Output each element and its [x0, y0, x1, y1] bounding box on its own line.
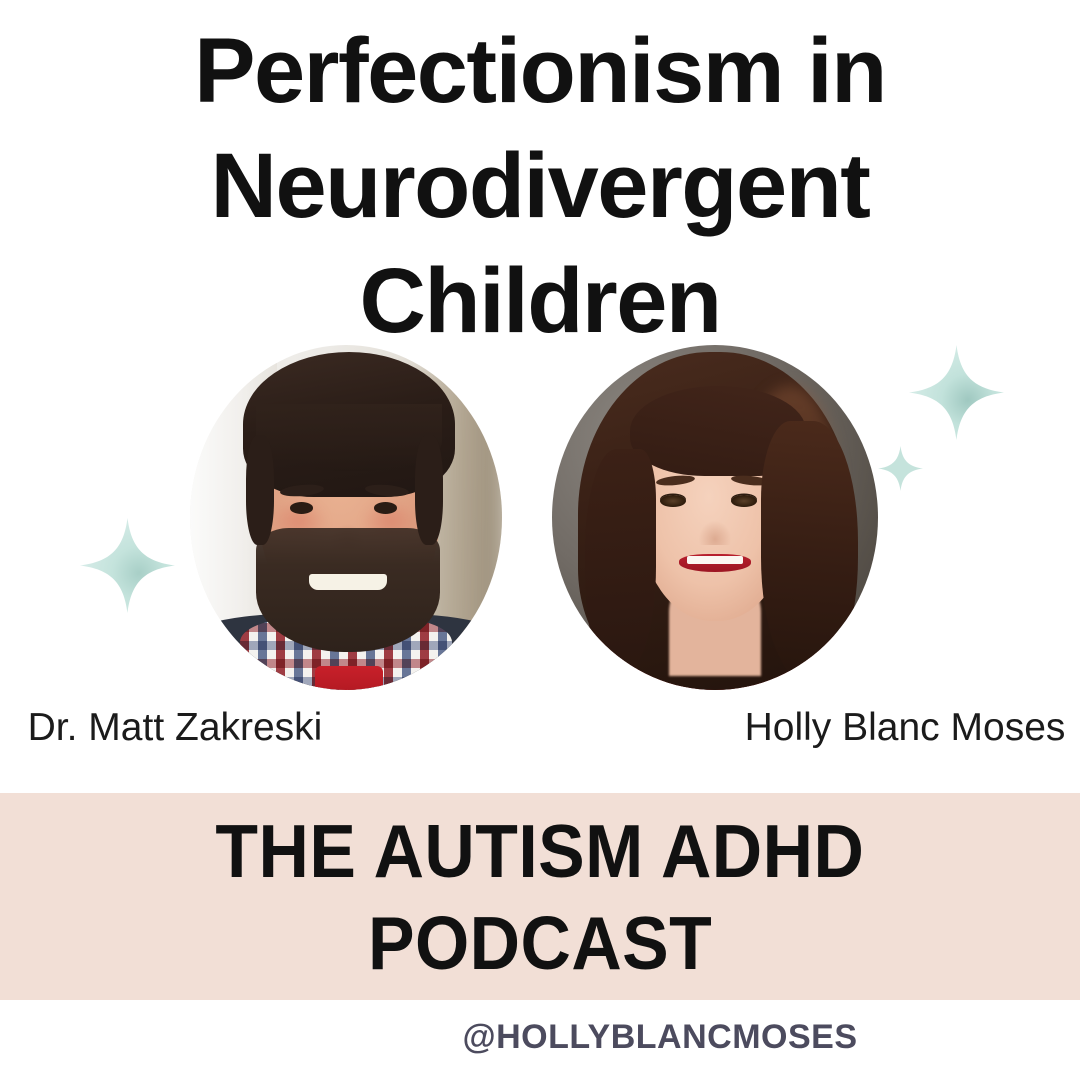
guest-names: Dr. Matt Zakreski Holly Blanc Moses [0, 706, 1080, 750]
guest-photo-right [552, 345, 878, 690]
photo-teeth [687, 556, 742, 563]
episode-title: Perfectionism in Neurodivergent Children [0, 14, 1080, 359]
photo-beard [256, 528, 440, 652]
title-line-1: Perfectionism in [0, 14, 1080, 129]
sparkle-top-right-icon [909, 345, 1004, 440]
avatar-holly-blanc-moses [552, 345, 878, 690]
photo-hair-front-right [761, 421, 859, 683]
guest-photo-left [190, 345, 502, 690]
podcast-cover: Perfectionism in Neurodivergent Children [0, 0, 1080, 1080]
avatar-matt-zakreski [190, 345, 502, 690]
photo-sideburn-left [246, 435, 274, 545]
sparkle-mid-right-icon [878, 446, 923, 491]
banner-line-1: THE AUTISM ADHD [216, 805, 865, 897]
title-line-2: Neurodivergent [0, 129, 1080, 244]
podcast-name-banner: THE AUTISM ADHD PODCAST [0, 793, 1080, 1000]
photo-tie [315, 666, 384, 690]
banner-line-2: PODCAST [368, 897, 712, 989]
guest-name-left: Dr. Matt Zakreski [0, 706, 540, 750]
sparkle-left-icon [80, 518, 175, 613]
photo-eye-left [290, 502, 313, 514]
photo-hair-front-left [585, 449, 657, 677]
guest-name-right: Holly Blanc Moses [540, 706, 1080, 750]
photo-eye-right [374, 502, 397, 514]
photo-nose [699, 521, 732, 545]
photo-smile [309, 574, 387, 589]
title-line-3: Children [0, 244, 1080, 359]
photo-sideburn-right [415, 435, 443, 545]
social-handle: @HOLLYBLANCMOSES [0, 1018, 1080, 1057]
